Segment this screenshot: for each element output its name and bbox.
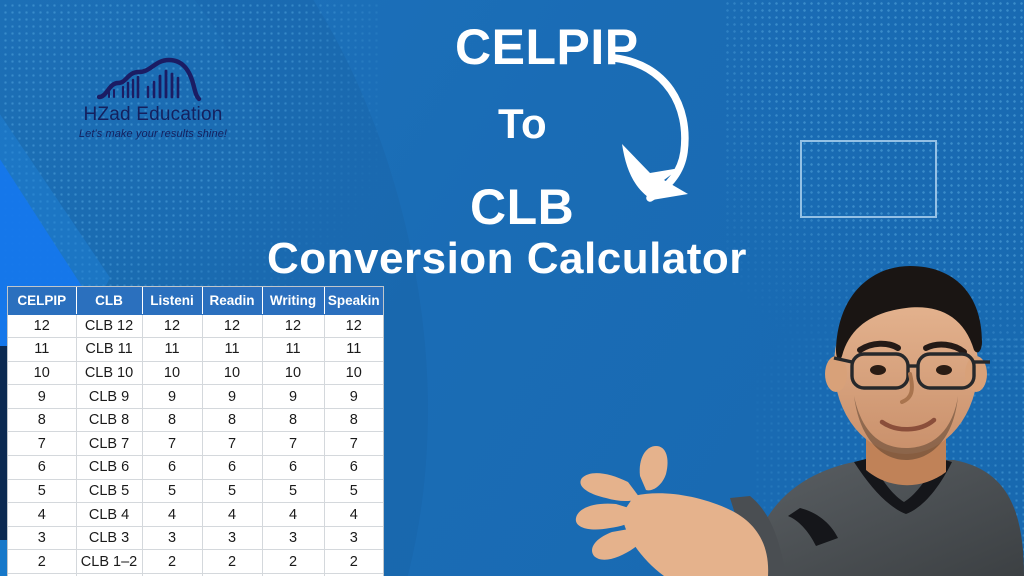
table-cell: 10 [262,361,324,385]
brand-tagline: Let's make your results shine! [48,128,258,140]
table-cell: 11 [262,338,324,362]
table-cell: 4 [8,503,76,527]
column-header-listening[interactable]: Listeni [142,287,202,314]
column-header-reading[interactable]: Readin [202,287,262,314]
table-cell: 11 [202,338,262,362]
table-cell: 11 [8,338,76,362]
table-cell: 6 [8,456,76,480]
table-cell: 3 [262,526,324,550]
table-cell: CLB 9 [76,385,142,409]
table-cell: 8 [262,408,324,432]
table-cell: CLB 6 [76,456,142,480]
table-cell: 10 [324,361,383,385]
table-cell: CLB 8 [76,408,142,432]
table-cell: 2 [324,550,383,574]
table-cell: 5 [142,479,202,503]
table-cell: 9 [324,385,383,409]
table-row[interactable]: 5CLB 55555 [8,479,383,503]
brand-name: HZad Education [48,104,258,126]
table-cell: CLB 11 [76,338,142,362]
column-header-speaking[interactable]: Speakin [324,287,383,314]
table-cell: 7 [202,432,262,456]
table-cell: 3 [142,526,202,550]
empty-placeholder-box[interactable] [800,140,937,218]
table-cell: 7 [262,432,324,456]
table-cell: 4 [324,503,383,527]
table-cell: 11 [324,338,383,362]
table-cell: 7 [324,432,383,456]
table-cell: CLB 3 [76,526,142,550]
table-row[interactable]: 12CLB 1212121212 [8,314,383,338]
table-cell: 4 [262,503,324,527]
table-cell: 12 [8,314,76,338]
table-cell: 10 [8,361,76,385]
conversion-table: CELPIP CLB Listeni Readin Writing Speaki… [8,287,383,576]
table-cell: 8 [142,408,202,432]
table-cell: 8 [324,408,383,432]
table-cell: 6 [324,456,383,480]
table-cell: CLB 7 [76,432,142,456]
conversion-table-container[interactable]: CELPIP CLB Listeni Readin Writing Speaki… [8,287,383,576]
table-cell: 6 [142,456,202,480]
table-cell: 9 [8,385,76,409]
table-cell: 5 [324,479,383,503]
table-cell: 5 [8,479,76,503]
table-cell: 2 [142,550,202,574]
table-row[interactable]: 3CLB 33333 [8,526,383,550]
column-header-celpip[interactable]: CELPIP [8,287,76,314]
table-cell: 9 [142,385,202,409]
table-cell: 7 [8,432,76,456]
table-cell: 5 [262,479,324,503]
presenter-photo [554,246,1024,576]
table-cell: 7 [142,432,202,456]
table-row[interactable]: 8CLB 88888 [8,408,383,432]
column-header-writing[interactable]: Writing [262,287,324,314]
table-cell: 4 [142,503,202,527]
table-cell: 6 [202,456,262,480]
table-cell: 5 [202,479,262,503]
table-cell: 12 [262,314,324,338]
table-cell: 12 [202,314,262,338]
table-row[interactable]: 4CLB 44444 [8,503,383,527]
table-cell: CLB 4 [76,503,142,527]
table-header-row: CELPIP CLB Listeni Readin Writing Speaki… [8,287,383,314]
table-row[interactable]: 2CLB 1–22222 [8,550,383,574]
column-header-clb[interactable]: CLB [76,287,142,314]
table-cell: CLB 5 [76,479,142,503]
table-cell: 2 [202,550,262,574]
table-row[interactable]: 10CLB 1010101010 [8,361,383,385]
table-cell: 4 [202,503,262,527]
table-cell: 2 [262,550,324,574]
table-cell: 12 [142,314,202,338]
table-cell: 9 [262,385,324,409]
table-cell: CLB 1–2 [76,550,142,574]
table-cell: 3 [202,526,262,550]
slide-canvas: HZad Education Let's make your results s… [0,0,1024,576]
table-cell: 6 [262,456,324,480]
soundwave-arc-icon [93,56,213,102]
table-cell: 10 [202,361,262,385]
table-row[interactable]: 6CLB 66666 [8,456,383,480]
table-cell: 9 [202,385,262,409]
table-cell: CLB 10 [76,361,142,385]
table-cell: CLB 12 [76,314,142,338]
table-cell: 10 [142,361,202,385]
table-cell: 3 [8,526,76,550]
table-cell: 3 [324,526,383,550]
table-row[interactable]: 11CLB 1111111111 [8,338,383,362]
table-row[interactable]: 9CLB 99999 [8,385,383,409]
table-cell: 8 [202,408,262,432]
table-cell: 8 [8,408,76,432]
table-cell: 12 [324,314,383,338]
table-cell: 2 [8,550,76,574]
table-row[interactable]: 7CLB 77777 [8,432,383,456]
table-body: 12CLB 121212121211CLB 111111111110CLB 10… [8,314,383,576]
brand-logo: HZad Education Let's make your results s… [48,56,258,140]
table-cell: 11 [142,338,202,362]
